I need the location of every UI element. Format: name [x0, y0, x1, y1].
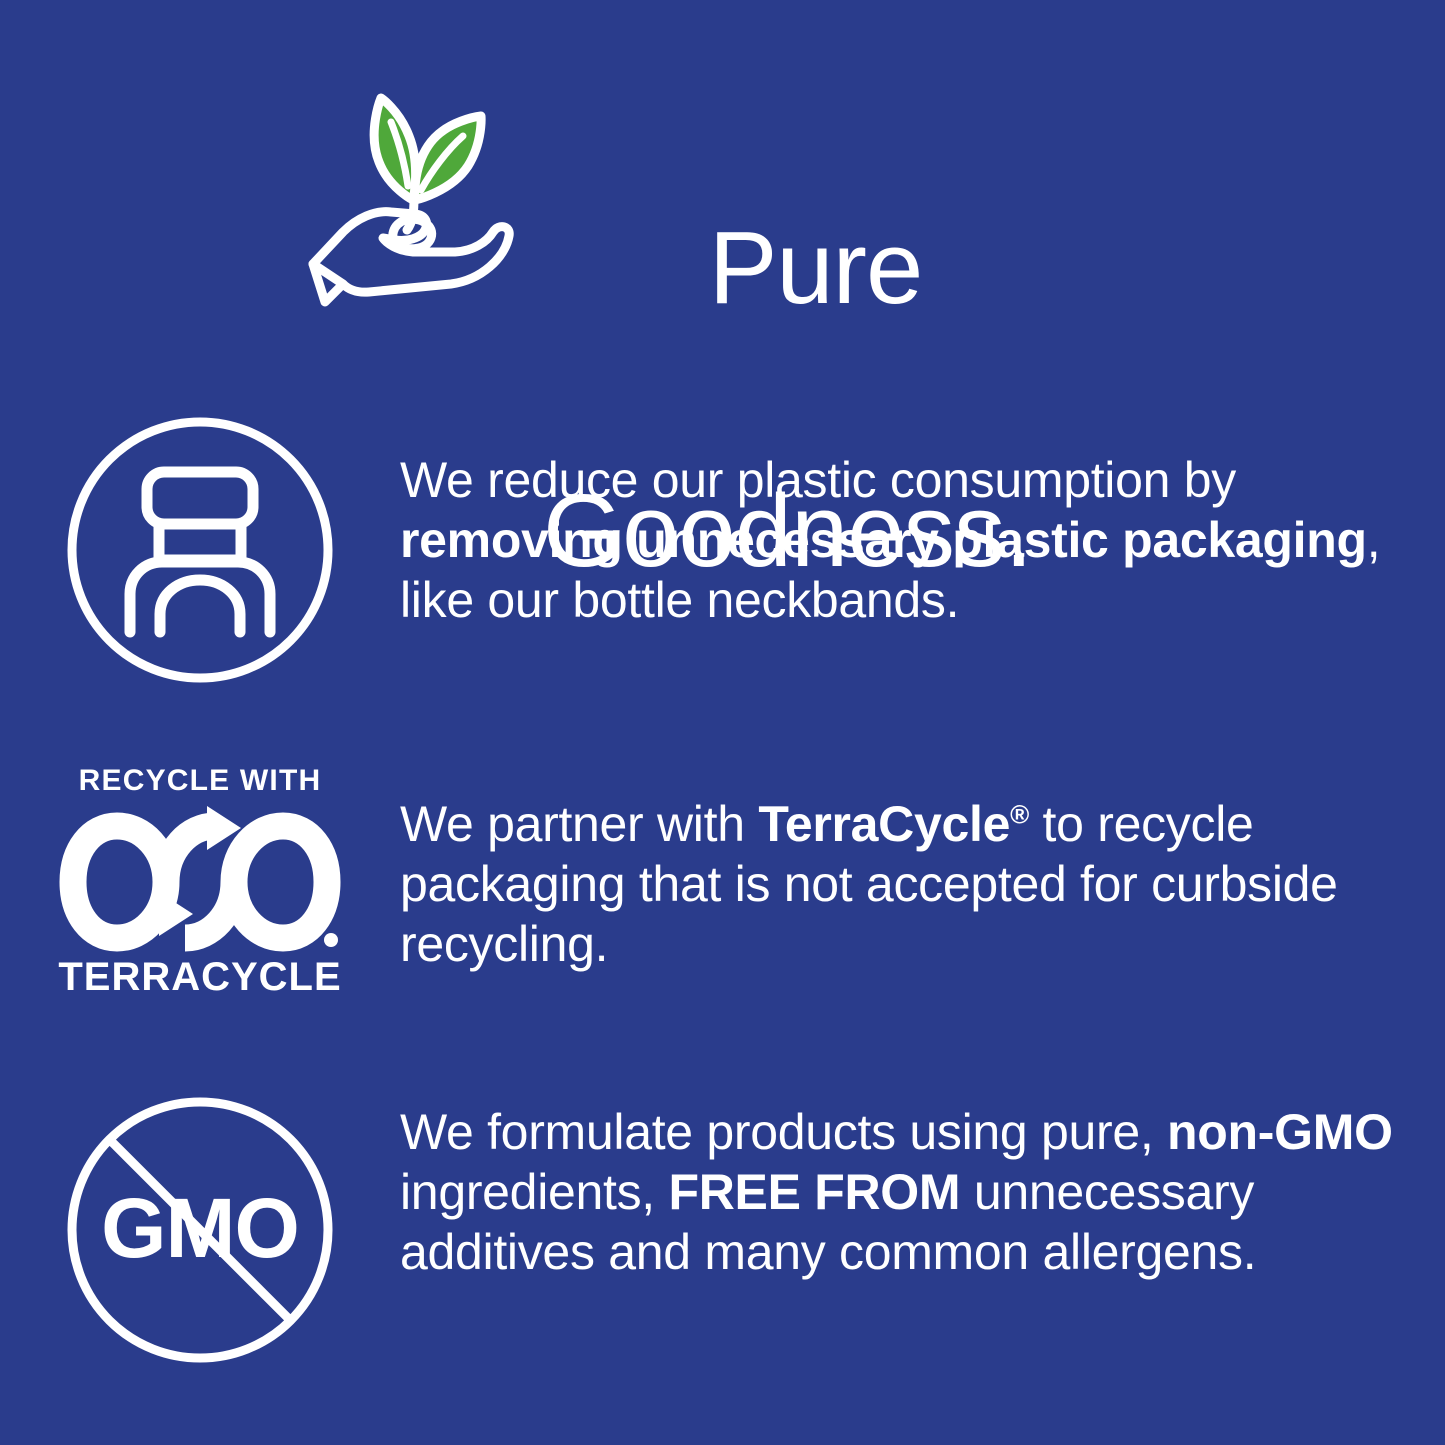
- benefit-text-terracycle: We partner with TerraCycle® to recycle p…: [400, 742, 1445, 974]
- pure-goodness-infographic: Pure Goodness.: [0, 0, 1445, 1445]
- text-plain-1: We reduce our plastic consumption by: [400, 452, 1236, 508]
- benefit-row-gmo: GMO We formulate products using pure, no…: [0, 1080, 1445, 1370]
- benefit-icon-container: GMO: [0, 1080, 400, 1366]
- no-gmo-icon: GMO: [64, 1094, 336, 1366]
- benefit-row-terracycle: RECYCLE WITH TERRACYCLE We partner: [0, 742, 1445, 1032]
- benefit-row-plastic: We reduce our plastic consumption by rem…: [0, 400, 1445, 690]
- text-bold-1: non-GMO: [1167, 1104, 1393, 1160]
- title-line-1: Pure: [709, 210, 923, 325]
- terracycle-logo-icon: RECYCLE WITH TERRACYCLE: [55, 764, 345, 996]
- plastic-bottle-in-circle-icon: [64, 414, 336, 686]
- text-bold-2: FREE FROM: [669, 1164, 961, 1220]
- benefit-rows: We reduce our plastic consumption by rem…: [0, 400, 1445, 1418]
- benefit-text-gmo: We formulate products using pure, non-GM…: [400, 1080, 1445, 1282]
- text-plain-1: We partner with: [400, 796, 758, 852]
- benefit-icon-container: [0, 400, 400, 686]
- text-bold-1: TerraCycle: [758, 796, 1010, 852]
- registered-mark: ®: [1010, 799, 1029, 829]
- text-plain-1: We formulate products using pure,: [400, 1104, 1167, 1160]
- gmo-label: GMO: [101, 1181, 299, 1275]
- hand-holding-sprout-icon: [295, 80, 525, 310]
- terracycle-bottom-label: TERRACYCLE: [58, 955, 341, 996]
- text-bold-1: removing unnecessary plastic packaging: [400, 512, 1367, 568]
- terracycle-top-label: RECYCLE WITH: [79, 764, 322, 797]
- benefit-text-plastic: We reduce our plastic consumption by rem…: [400, 400, 1445, 630]
- benefit-icon-container: RECYCLE WITH TERRACYCLE: [0, 742, 400, 996]
- text-plain-2: ingredients,: [400, 1164, 669, 1220]
